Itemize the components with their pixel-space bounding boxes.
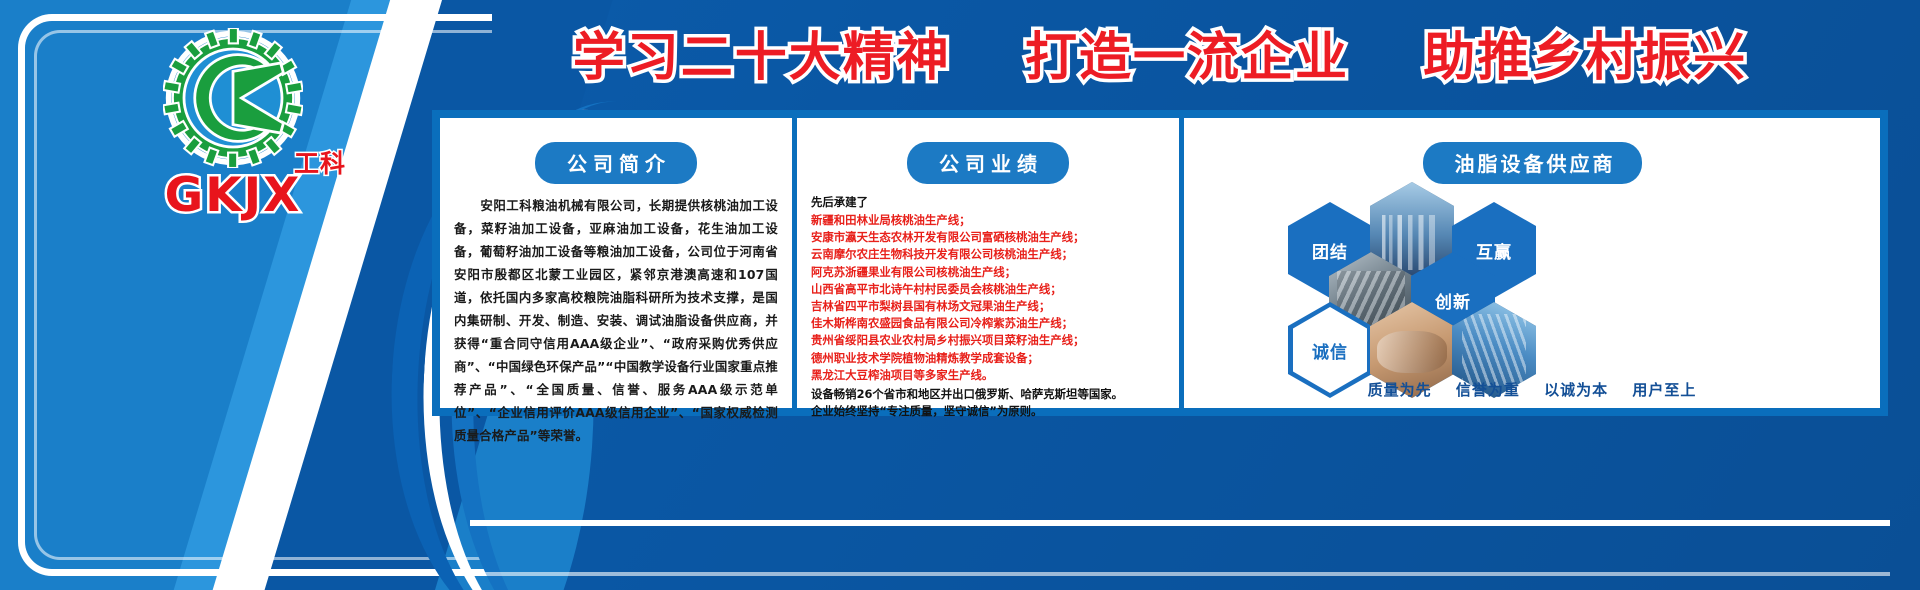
- gear-gk-logo-icon: [163, 28, 303, 168]
- performance-footer: 设备畅销26个省市和地区并出口俄罗斯、哈萨克斯坦等国家。企业始终坚持“专注质量，…: [811, 386, 1165, 420]
- performance-item: 佳木斯桦南农盛园食品有限公司冷榨紫苏油生产线；: [811, 315, 1165, 332]
- headline-part-3: 助推乡村振兴: [1423, 28, 1747, 88]
- performance-item: 黑龙江大豆榨油项目等多家生产线。: [811, 367, 1165, 384]
- bottom-rule-white: [470, 520, 1890, 566]
- panel-intro-paragraph: 安阳工科粮油机械有限公司，长期提供核桃油加工设备，菜籽油加工设备，亚麻油加工设备…: [454, 194, 778, 447]
- performance-footer-line: 设备畅销26个省市和地区并出口俄罗斯、哈萨克斯坦等国家。: [811, 386, 1165, 403]
- headline-part-1: 学习二十大精神: [573, 28, 951, 88]
- logo-wordmark: GKJX: [118, 168, 348, 223]
- poster-canvas: 工科 GKJX 学习二十大精神 打造一流企业 助推乡村振兴 公司简介 安阳工科粮…: [0, 0, 1920, 590]
- performance-item: 吉林省四平市梨树县国有林场文冠果油生产线；: [811, 298, 1165, 315]
- bottom-rule-thin: [470, 572, 1890, 582]
- intro-text: 安阳工科粮油机械有限公司，长期提供核桃油加工设备，菜籽油加工设备，亚麻油加工设备…: [454, 198, 778, 443]
- panel-company-intro: 公司简介 安阳工科粮油机械有限公司，长期提供核桃油加工设备，菜籽油加工设备，亚麻…: [440, 118, 792, 408]
- slogan-part-2: 信誉为重: [1456, 381, 1520, 399]
- panel-supplier: 油脂设备供应商 团结 互赢 创新 诚: [1184, 118, 1880, 408]
- panel-performance-title: 公司业绩: [907, 142, 1069, 184]
- hex-label-tuanjie: 团结: [1312, 238, 1348, 263]
- page-title: 学习二十大精神 打造一流企业 助推乡村振兴: [430, 22, 1890, 94]
- slogan-part-4: 用户至上: [1632, 381, 1696, 399]
- panel-intro-title: 公司简介: [535, 142, 697, 184]
- performance-item: 德州职业技术学院植物油精炼教学成套设备；: [811, 350, 1165, 367]
- hex-label-huying: 互赢: [1476, 238, 1512, 263]
- supplier-slogan: 质量为先 信誉为重 以诚为本 用户至上: [1184, 379, 1880, 400]
- performance-item: 云南摩尔农庄生物科技开发有限公司核桃油生产线；: [811, 246, 1165, 263]
- hex-label-chengxin: 诚信: [1312, 338, 1348, 363]
- performance-item: 新疆和田林业局核桃油生产线；: [811, 212, 1165, 229]
- headline-part-2: 打造一流企业: [1025, 28, 1349, 88]
- performance-lead: 先后承建了: [811, 194, 1165, 211]
- company-logo: 工科 GKJX: [118, 28, 348, 218]
- performance-item: 山西省高平市北诗午村村民委员会核桃油生产线；: [811, 281, 1165, 298]
- hex-cluster: 团结 互赢 创新 诚信: [1198, 194, 1866, 394]
- performance-item: 贵州省绥阳县农业农村局乡村振兴项目菜籽油生产线；: [811, 332, 1165, 349]
- slogan-part-3: 以诚为本: [1544, 381, 1608, 399]
- panel-supplier-title: 油脂设备供应商: [1423, 142, 1642, 184]
- performance-item: 安康市瀛天生态农林开发有限公司富硒核桃油生产线；: [811, 229, 1165, 246]
- performance-item: 阿克苏浙疆果业有限公司核桃油生产线；: [811, 264, 1165, 281]
- performance-list: 新疆和田林业局核桃油生产线；安康市瀛天生态农林开发有限公司富硒核桃油生产线；云南…: [811, 212, 1165, 384]
- hex-label-chuangxin: 创新: [1435, 288, 1471, 313]
- content-panels: 公司简介 安阳工科粮油机械有限公司，长期提供核桃油加工设备，菜籽油加工设备，亚麻…: [432, 110, 1888, 416]
- performance-footer-line: 企业始终坚持“专注质量，坚守诚信”为原则。: [811, 403, 1165, 420]
- slogan-part-1: 质量为先: [1368, 381, 1432, 399]
- panel-company-performance: 公司业绩 先后承建了 新疆和田林业局核桃油生产线；安康市瀛天生态农林开发有限公司…: [797, 118, 1179, 408]
